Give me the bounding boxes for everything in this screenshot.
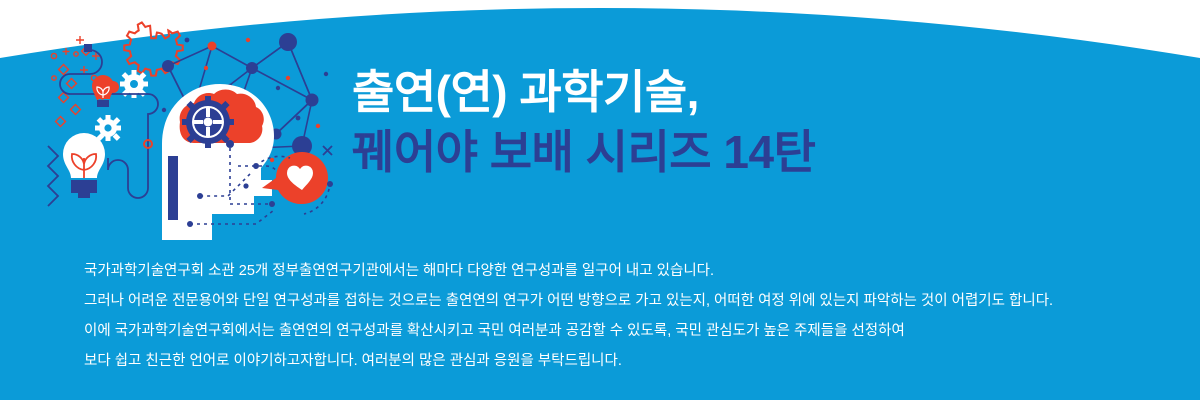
gear-icon <box>95 115 121 141</box>
lightbulb-icon <box>63 133 105 198</box>
connector-node <box>226 140 234 148</box>
banner-title: 출연(연) 과학기술, 꿰어야 보배 시리즈 14탄 <box>352 62 992 182</box>
title-line-1: 출연(연) 과학기술, <box>352 62 992 122</box>
neural-bar <box>168 156 178 220</box>
description-line-3: 이에 국가과학기술연구회에서는 출연연의 연구성과를 확산시키고 국민 여러분과… <box>84 316 1174 346</box>
gear-icon <box>182 96 234 148</box>
gear-icon <box>124 22 183 75</box>
title-line-2: 꿰어야 보배 시리즈 14탄 <box>352 122 992 182</box>
promo-banner: 출연(연) 과학기술, 꿰어야 보배 시리즈 14탄 국가과학기술연구회 소관 … <box>0 0 1200 400</box>
x-mark-decoration <box>323 146 332 155</box>
description-line-4: 보다 쉽고 친근한 언어로 이야기하고자합니다. 여러분의 많은 관심과 응원을… <box>84 346 1174 376</box>
wire-terminal <box>84 44 92 52</box>
description-line-2: 그러나 어려운 전문용어와 단일 연구성과를 접하는 것으로는 출연연의 연구가… <box>84 286 1174 316</box>
description-line-1: 국가과학기술연구회 소관 25개 정부출연연구기관에서는 해마다 다양한 연구성… <box>84 256 1174 286</box>
lightbulb-icon <box>92 75 114 107</box>
science-technology-illustration <box>40 18 340 240</box>
banner-description: 국가과학기술연구회 소관 25개 정부출연연구기관에서는 해마다 다양한 연구성… <box>84 256 1174 376</box>
